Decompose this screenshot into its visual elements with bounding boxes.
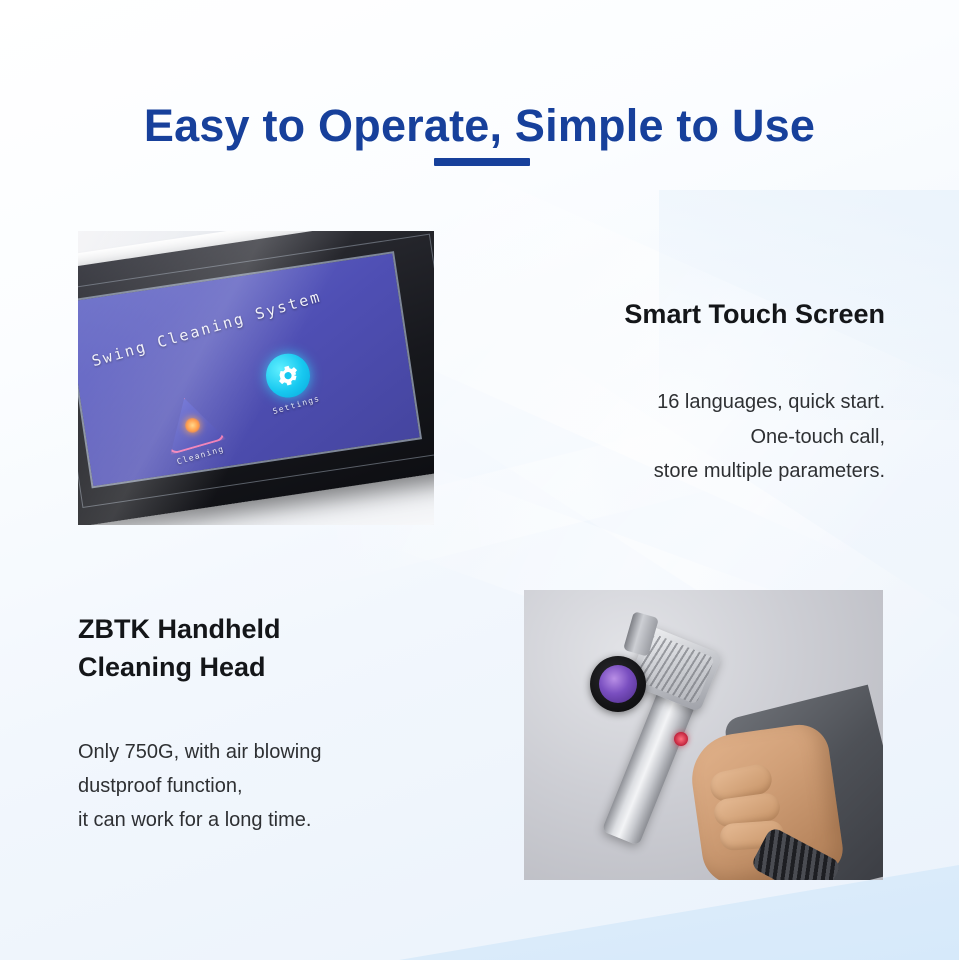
hmi-button-settings[interactable]: Settings (245, 344, 334, 420)
cleaning-head-photo (524, 590, 883, 880)
trigger-button (674, 732, 688, 746)
laser-burst-icon (183, 417, 202, 436)
cleaning-head-description-line: dustproof function, (78, 769, 478, 803)
cleaning-head-heading-line: Cleaning Head (78, 648, 478, 686)
cleaning-head-text-block: ZBTK Handheld Cleaning Head Only 750G, w… (78, 610, 478, 838)
cleaning-head-heading-line: ZBTK Handheld (78, 610, 478, 648)
touch-screen-photo: Swing Cleaning System Cleaning (78, 231, 434, 525)
touch-screen-text-block: Smart Touch Screen 16 languages, quick s… (470, 295, 885, 489)
touch-screen-heading: Smart Touch Screen (470, 295, 885, 333)
hmi-button-cleaning[interactable]: Cleaning (149, 387, 236, 469)
cleaning-head-description: Only 750G, with air blowing dustproof fu… (78, 735, 478, 838)
page-title: Easy to Operate, Simple to Use (0, 100, 959, 152)
gear-icon (261, 348, 315, 402)
touch-screen-description-line: 16 languages, quick start. (470, 385, 885, 419)
promo-page: Easy to Operate, Simple to Use Swing Cle… (0, 0, 959, 960)
cleaning-head-description-line: Only 750G, with air blowing (78, 735, 478, 769)
cleaning-head-description-line: it can work for a long time. (78, 803, 478, 837)
touch-screen-description: 16 languages, quick start. One-touch cal… (470, 385, 885, 488)
output-lens (590, 656, 646, 712)
cleaning-head-heading: ZBTK Handheld Cleaning Head (78, 610, 478, 687)
touch-screen-description-line: One-touch call, (470, 420, 885, 454)
touch-screen-description-line: store multiple parameters. (470, 454, 885, 488)
screen-bezel: Swing Cleaning System Cleaning (78, 231, 434, 525)
title-underline (434, 158, 530, 166)
